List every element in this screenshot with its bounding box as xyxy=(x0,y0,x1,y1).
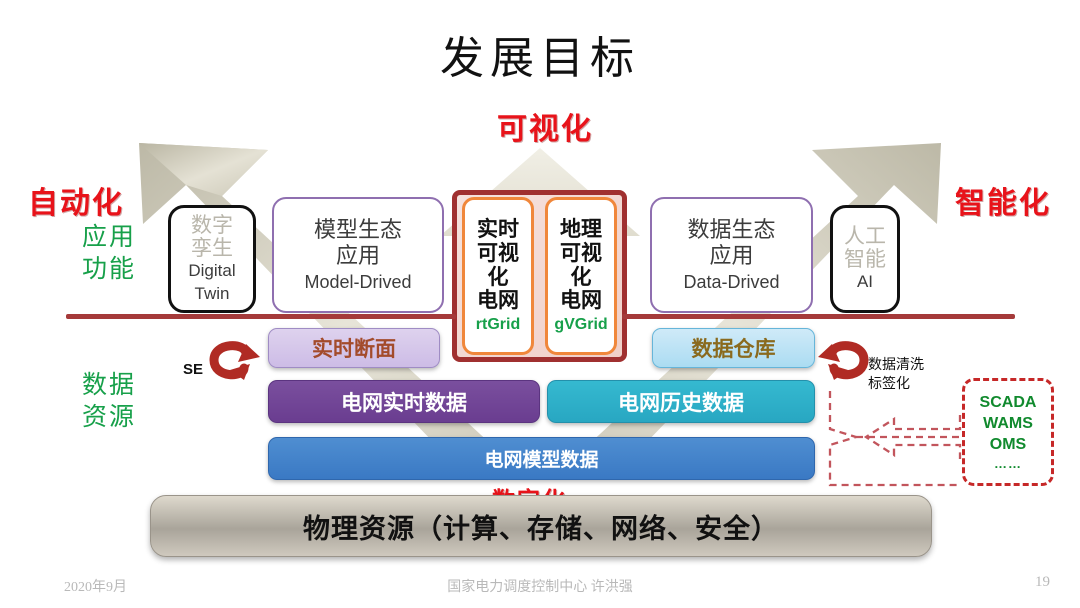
source-item-scada: SCADA xyxy=(980,393,1037,413)
box-geo-visual-grid[interactable]: 地理 可视 化 电网 gVGrid xyxy=(545,197,617,355)
data-driven-en: Data-Drived xyxy=(683,272,779,293)
source-item-oms: OMS xyxy=(990,435,1026,455)
bar-data-warehouse[interactable]: 数据仓库 xyxy=(652,328,815,368)
box-artificial-intelligence[interactable]: 人工 智能 AI xyxy=(830,205,900,313)
ai-cn-line2: 智能 xyxy=(844,248,886,271)
layer-divider-left xyxy=(66,314,456,319)
box-rt-visual-grid[interactable]: 实时 可视 化 电网 rtGrid xyxy=(462,197,534,355)
page-title: 发展目标 xyxy=(0,22,1080,86)
ai-cn-line1: 人工 xyxy=(844,225,886,248)
box-data-driven[interactable]: 数据生态 应用 Data-Drived xyxy=(650,197,813,313)
bar-real-time-snapshot-label: 实时断面 xyxy=(312,333,396,363)
layer-label-data-line1: 数据 xyxy=(54,370,164,402)
model-driven-cn-line2: 应用 xyxy=(336,243,380,268)
source-item-ellipsis: …… xyxy=(994,456,1022,471)
geo-visual-grid-tag: gVGrid xyxy=(554,316,607,334)
layer-label-application-line2: 功能 xyxy=(54,254,164,286)
geo-visual-grid-line4: 电网 xyxy=(560,289,602,313)
digital-twin-cn-line1: 数字 xyxy=(191,214,233,237)
layer-label-data: 数据 资源 xyxy=(54,370,164,434)
rt-visual-grid-line3: 化 xyxy=(488,266,509,290)
rt-visual-grid-line1: 实时 xyxy=(477,218,519,242)
footer-page-number: 19 xyxy=(0,574,1050,591)
source-connector-arrow-icon xyxy=(820,385,980,495)
geo-visual-grid-line2: 可视 xyxy=(560,242,602,266)
bar-data-warehouse-label: 数据仓库 xyxy=(692,333,776,363)
layer-label-data-line2: 资源 xyxy=(54,402,164,434)
bar-grid-history-data-label: 电网历史数据 xyxy=(618,387,744,417)
rt-visual-grid-line2: 可视 xyxy=(477,242,519,266)
geo-visual-grid-line1: 地理 xyxy=(560,218,602,242)
layer-divider-right xyxy=(622,314,1015,319)
data-driven-cn-line2: 应用 xyxy=(709,243,753,268)
data-driven-cn-line1: 数据生态 xyxy=(687,217,775,242)
bar-real-time-snapshot[interactable]: 实时断面 xyxy=(268,328,440,368)
headline-automation: 自动化 xyxy=(28,178,124,222)
bar-grid-model-data-label: 电网模型数据 xyxy=(484,445,598,472)
box-model-driven[interactable]: 模型生态 应用 Model-Drived xyxy=(272,197,444,313)
rt-visual-grid-tag: rtGrid xyxy=(476,316,520,334)
se-label: SE xyxy=(183,361,203,378)
digital-twin-en-line2: Twin xyxy=(195,284,230,304)
bar-grid-model-data[interactable]: 电网模型数据 xyxy=(268,437,815,480)
model-driven-cn-line1: 模型生态 xyxy=(314,217,402,242)
model-driven-en: Model-Drived xyxy=(304,272,411,293)
data-cleaning-line1: 数据清洗 xyxy=(868,357,924,376)
headline-intelligence: 智能化 xyxy=(955,178,1051,222)
layer-label-application-line1: 应用 xyxy=(54,222,164,254)
digital-twin-en-line1: Digital xyxy=(188,261,235,281)
source-systems-box[interactable]: SCADA WAMS OMS …… xyxy=(962,378,1054,486)
box-digital-twin[interactable]: 数字 孪生 Digital Twin xyxy=(168,205,256,313)
bar-grid-realtime-data[interactable]: 电网实时数据 xyxy=(268,380,540,423)
headline-visualization: 可视化 xyxy=(497,104,593,148)
rt-visual-grid-line4: 电网 xyxy=(477,289,519,313)
bar-physical-resources[interactable]: 物理资源（计算、存储、网络、安全） xyxy=(150,495,932,557)
se-loop-arrow-icon xyxy=(200,340,260,400)
digital-twin-cn-line2: 孪生 xyxy=(191,237,233,260)
bar-physical-resources-label: 物理资源（计算、存储、网络、安全） xyxy=(303,507,779,546)
geo-visual-grid-line3: 化 xyxy=(571,266,592,290)
layer-label-application: 应用 功能 xyxy=(54,222,164,286)
slide-canvas: 发展目标 自动化 可视化 智能化 数字化 应用 功能 数据 资源 数字 孪生 D… xyxy=(0,0,1080,608)
source-item-wams: WAMS xyxy=(983,414,1033,434)
bar-grid-history-data[interactable]: 电网历史数据 xyxy=(547,380,815,423)
bar-grid-realtime-data-label: 电网实时数据 xyxy=(341,387,467,417)
ai-en: AI xyxy=(857,272,873,292)
